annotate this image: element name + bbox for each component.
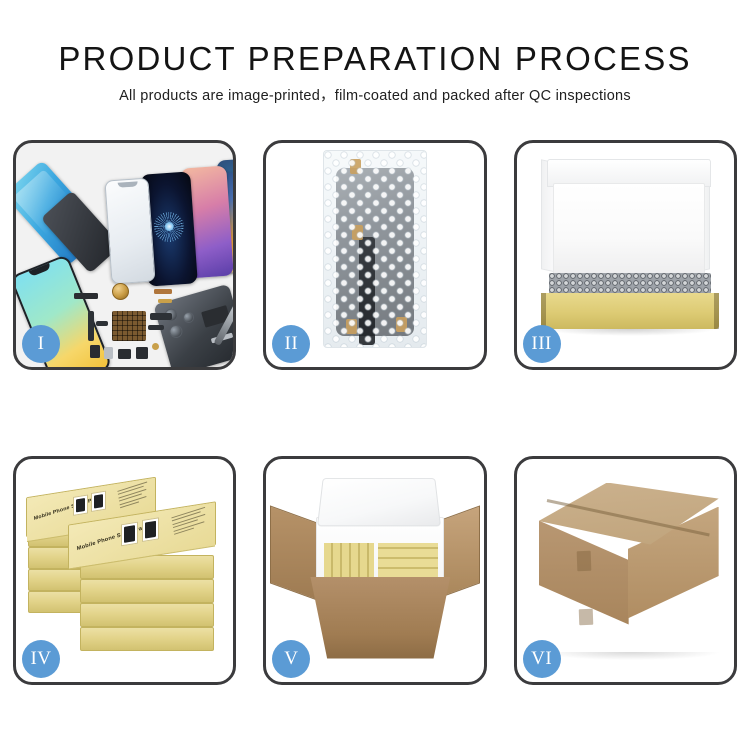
- box-product-image: [91, 490, 106, 511]
- component-icon: [74, 293, 98, 299]
- process-step-grid: I II: [13, 140, 737, 685]
- process-step-panel-4[interactable]: Mobile Phone Spare Parts Mobile Phone Sp…: [13, 456, 236, 686]
- stacked-box: [80, 579, 214, 603]
- box-product-image: [121, 521, 138, 546]
- flex-cable-icon: [150, 313, 172, 320]
- chip-array-icon: [112, 311, 146, 341]
- component-icon: [90, 345, 100, 358]
- component-icon: [136, 347, 148, 359]
- stacked-box: [80, 627, 214, 651]
- box-shadow: [543, 329, 717, 336]
- page-subtitle: All products are image-printed，film-coat…: [0, 89, 750, 104]
- component-icon: [158, 299, 172, 303]
- process-step-panel-3[interactable]: III: [514, 140, 737, 370]
- process-step-panel-6[interactable]: VI: [514, 456, 737, 686]
- box-product-image: [142, 517, 159, 542]
- process-step-panel-2[interactable]: II: [263, 140, 486, 370]
- bubble-texture-icon: [324, 151, 426, 347]
- bubble-wrapped-contents-icon: [549, 273, 711, 295]
- foam-sheet-icon: [553, 183, 705, 275]
- tempered-glass-screen-icon: [104, 178, 155, 285]
- step-badge-4: IV: [22, 640, 60, 678]
- component-icon: [118, 349, 131, 359]
- step-badge-2: II: [272, 325, 310, 363]
- step-badge-1: I: [22, 325, 60, 363]
- flex-cable-icon: [148, 325, 164, 330]
- bubble-wrap-bag-icon: [323, 150, 427, 348]
- stacked-box: [80, 603, 214, 627]
- product-preparation-infographic: PRODUCT PREPARATION PROCESS All products…: [0, 0, 750, 750]
- phone-back-housing-icon: [153, 284, 233, 367]
- screw-icon: [152, 343, 159, 350]
- kraft-box-base-icon: [541, 293, 719, 329]
- page-title: PRODUCT PREPARATION PROCESS: [0, 42, 750, 75]
- box-product-image: [73, 494, 88, 515]
- foam-box-lid-icon: [317, 478, 441, 526]
- screw-icon: [232, 357, 233, 363]
- flex-cable-icon: [96, 321, 108, 326]
- carton-body-icon: [310, 577, 450, 659]
- tape-patch-icon: [576, 550, 591, 570]
- component-icon: [104, 347, 113, 359]
- process-step-panel-1[interactable]: I: [13, 140, 236, 370]
- component-icon: [154, 289, 172, 294]
- tape-patch-icon: [578, 608, 593, 624]
- process-step-panel-5[interactable]: V: [263, 456, 486, 686]
- step-badge-6: VI: [523, 640, 561, 678]
- speaker-module-icon: [112, 283, 129, 300]
- flex-cable-icon: [88, 311, 94, 341]
- header: PRODUCT PREPARATION PROCESS All products…: [0, 0, 750, 104]
- carton-shadow: [543, 652, 719, 660]
- step-badge-3: III: [523, 325, 561, 363]
